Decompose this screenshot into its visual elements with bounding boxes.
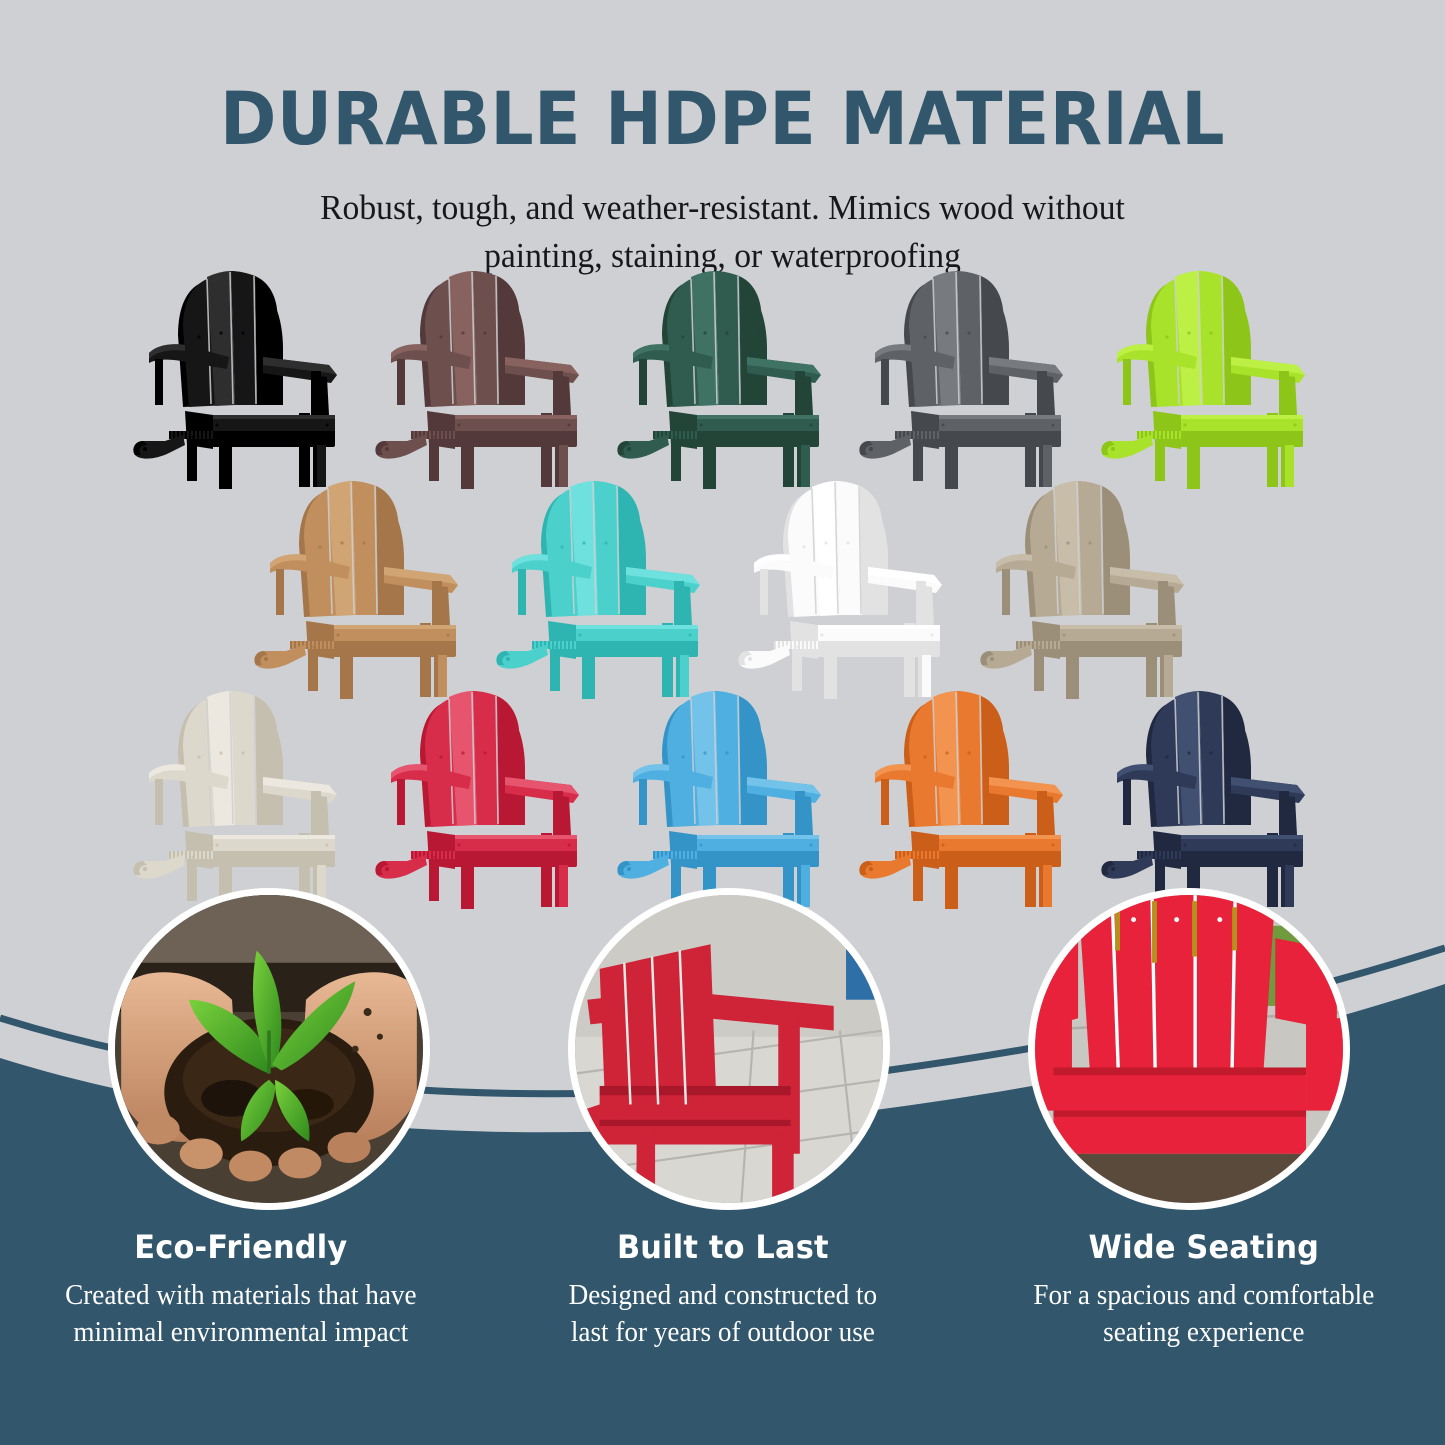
chair-illustration — [1091, 685, 1323, 913]
chair-row-2 — [0, 475, 1445, 703]
infographic-canvas: DURABLE HDPE MATERIAL Robust, tough, and… — [0, 0, 1445, 1445]
chair-illustration — [486, 475, 718, 703]
chair-illustration — [728, 475, 960, 703]
chair-swatch-orange[interactable] — [849, 685, 1081, 913]
feature-desc-line-2: last for years of outdoor use — [489, 1315, 956, 1352]
chair-swatch-lime-green[interactable] — [1091, 265, 1323, 493]
chair-swatch-gray[interactable] — [849, 265, 1081, 493]
page-title: DURABLE HDPE MATERIAL — [51, 83, 1395, 156]
feature-desc-line-1: For a spacious and comfortable — [971, 1278, 1438, 1315]
feature-description: Created with materials that haveminimal … — [7, 1278, 474, 1352]
feature-image-built-to-last — [568, 888, 890, 1210]
header-block: DURABLE HDPE MATERIAL Robust, tough, and… — [0, 0, 1445, 280]
chair-row-1 — [0, 265, 1445, 493]
chair-swatch-black[interactable] — [123, 265, 355, 493]
chair-illustration — [1091, 265, 1323, 493]
feature-image-eco-friendly — [108, 888, 430, 1210]
chair-illustration — [607, 685, 839, 913]
chair-illustration — [849, 685, 1081, 913]
chair-illustration — [123, 685, 355, 913]
feature-title: Built to Last — [494, 1228, 952, 1266]
chair-swatch-teak[interactable] — [244, 475, 476, 703]
chair-swatch-dark-green[interactable] — [607, 265, 839, 493]
feature-description: For a spacious and comfortableseating ex… — [971, 1278, 1438, 1352]
chair-swatch-light-blue[interactable] — [607, 685, 839, 913]
feature-desc-line-1: Designed and constructed to — [489, 1278, 956, 1315]
chair-swatch-turquoise[interactable] — [486, 475, 718, 703]
chair-swatch-navy-blue[interactable] — [1091, 685, 1323, 913]
chair-swatch-brown[interactable] — [365, 265, 597, 493]
chair-illustration — [970, 475, 1202, 703]
chair-illustration — [365, 265, 597, 493]
feature-description: Designed and constructed tolast for year… — [489, 1278, 956, 1352]
chair-color-grid — [0, 265, 1445, 913]
feature-caption-row: Eco-FriendlyCreated with materials that … — [0, 1228, 1445, 1352]
chair-swatch-red[interactable] — [365, 685, 597, 913]
feature-desc-line-1: Created with materials that have — [7, 1278, 474, 1315]
chair-row-3 — [0, 685, 1445, 913]
chair-illustration — [607, 265, 839, 493]
feature-image-row — [0, 888, 1445, 1218]
feature-built-to-last: Built to LastDesigned and constructed to… — [482, 1228, 964, 1352]
feature-wide-seating: Wide SeatingFor a spacious and comfortab… — [963, 1228, 1445, 1352]
feature-title: Wide Seating — [975, 1228, 1433, 1266]
feature-desc-line-2: minimal environmental impact — [7, 1315, 474, 1352]
chair-illustration — [123, 265, 355, 493]
feature-image-wide-seating — [1028, 888, 1350, 1210]
chair-illustration — [365, 685, 597, 913]
chair-swatch-white[interactable] — [728, 475, 960, 703]
feature-title: Eco-Friendly — [12, 1228, 470, 1266]
chair-illustration — [849, 265, 1081, 493]
chair-illustration — [244, 475, 476, 703]
feature-eco-friendly: Eco-FriendlyCreated with materials that … — [0, 1228, 482, 1352]
feature-desc-line-2: seating experience — [971, 1315, 1438, 1352]
subtitle-line-1: Robust, tough, and weather-resistant. Mi… — [29, 184, 1416, 232]
chair-swatch-taupe[interactable] — [970, 475, 1202, 703]
chair-swatch-ivory[interactable] — [123, 685, 355, 913]
